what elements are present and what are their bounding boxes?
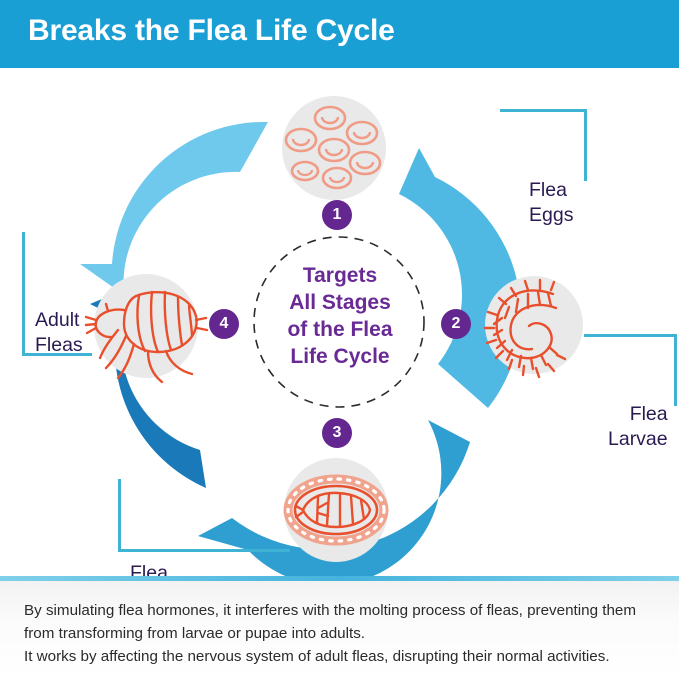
life-cycle-diagram: 1 2 3 4 Targets All Stages of the Flea L… bbox=[0, 68, 679, 576]
flea-eggs-disc bbox=[282, 96, 386, 200]
stage-badge-4-label: 4 bbox=[220, 315, 229, 333]
footer-description: By simulating flea hormones, it interfer… bbox=[24, 599, 659, 668]
bracket-eggs-top bbox=[500, 109, 587, 112]
bracket-adult-left bbox=[22, 232, 25, 356]
label-flea-larvae: Flea Larvae bbox=[608, 402, 668, 452]
stage-badge-3: 3 bbox=[322, 418, 352, 448]
infographic-root: Breaks the Flea Life Cycle bbox=[0, 0, 679, 679]
stage-badge-1-label: 1 bbox=[333, 206, 342, 224]
header-bar: Breaks the Flea Life Cycle bbox=[0, 0, 679, 68]
stage-badge-4: 4 bbox=[209, 309, 239, 339]
stage-badge-3-label: 3 bbox=[333, 424, 342, 442]
arrow-segment-adult bbox=[80, 122, 268, 295]
bracket-pupae-bottom bbox=[118, 549, 290, 552]
label-adult-fleas: Adult Fleas bbox=[35, 308, 83, 358]
flea-pupae-disc bbox=[284, 458, 388, 562]
label-flea-eggs: Flea Eggs bbox=[529, 178, 573, 228]
stage-badge-2: 2 bbox=[441, 309, 471, 339]
bracket-adult-bottom bbox=[22, 353, 92, 356]
adult-flea-disc bbox=[86, 274, 207, 382]
center-caption: Targets All Stages of the Flea Life Cycl… bbox=[255, 262, 425, 370]
bracket-pupae-left bbox=[118, 479, 121, 552]
footer-band: By simulating flea hormones, it interfer… bbox=[0, 581, 679, 679]
stage-badge-1: 1 bbox=[322, 200, 352, 230]
bracket-larvae-top bbox=[584, 334, 677, 337]
bracket-larvae-right bbox=[674, 334, 677, 406]
bracket-eggs-right bbox=[584, 109, 587, 181]
stage-badge-2-label: 2 bbox=[452, 315, 461, 333]
page-title: Breaks the Flea Life Cycle bbox=[28, 14, 395, 48]
